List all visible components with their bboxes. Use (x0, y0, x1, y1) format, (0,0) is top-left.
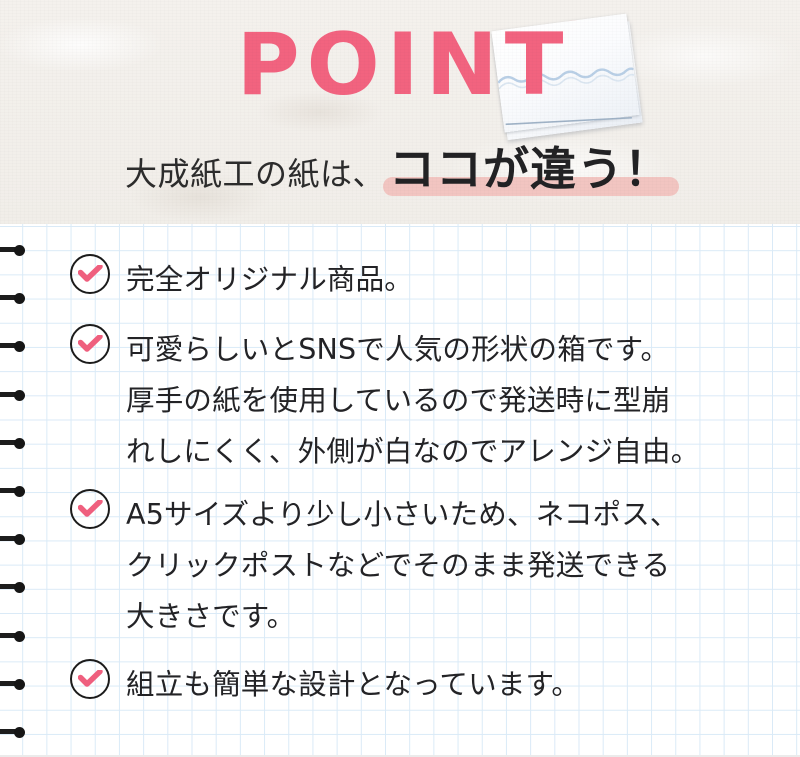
checklist-item: A5サイズより少し小さいため、ネコポス、 クリックポストなどでそのまま発送できる… (70, 489, 679, 642)
page-title: POINT (0, 22, 800, 108)
checklist-item-text: 完全オリジナル商品。 (126, 254, 413, 305)
subtitle-highlight: ココが違う！ (385, 146, 675, 194)
subtitle-lead-text: 大成紙工の紙は、 (125, 158, 385, 194)
check-circle-icon (70, 324, 110, 364)
checklist-item: 組立も簡単な設計となっています。 (70, 659, 580, 710)
point-section: POINT 大成紙工の紙は、 ココが違う！ 完全オリジナル商品。可愛らしいとSN… (0, 0, 800, 757)
checklist-item: 完全オリジナル商品。 (70, 254, 413, 305)
checklist-item-text: 組立も簡単な設計となっています。 (126, 659, 580, 710)
checklist-item: 可愛らしいとSNSで人気の形状の箱です。 厚手の紙を使用しているので発送時に型崩… (70, 324, 699, 477)
check-circle-icon (70, 489, 110, 529)
header-banner: POINT 大成紙工の紙は、 ココが違う！ (0, 0, 800, 224)
checklist-item-text: A5サイズより少し小さいため、ネコポス、 クリックポストなどでそのまま発送できる… (126, 489, 679, 642)
checklist-item-text: 可愛らしいとSNSで人気の形状の箱です。 厚手の紙を使用しているので発送時に型崩… (126, 324, 699, 477)
subtitle-strong-text: ココが違う！ (389, 142, 671, 196)
check-circle-icon (70, 659, 110, 699)
feature-checklist: 完全オリジナル商品。可愛らしいとSNSで人気の形状の箱です。 厚手の紙を使用して… (0, 224, 800, 757)
subtitle: 大成紙工の紙は、 ココが違う！ (0, 146, 800, 194)
check-circle-icon (70, 254, 110, 294)
header-content: POINT 大成紙工の紙は、 ココが違う！ (0, 0, 800, 224)
